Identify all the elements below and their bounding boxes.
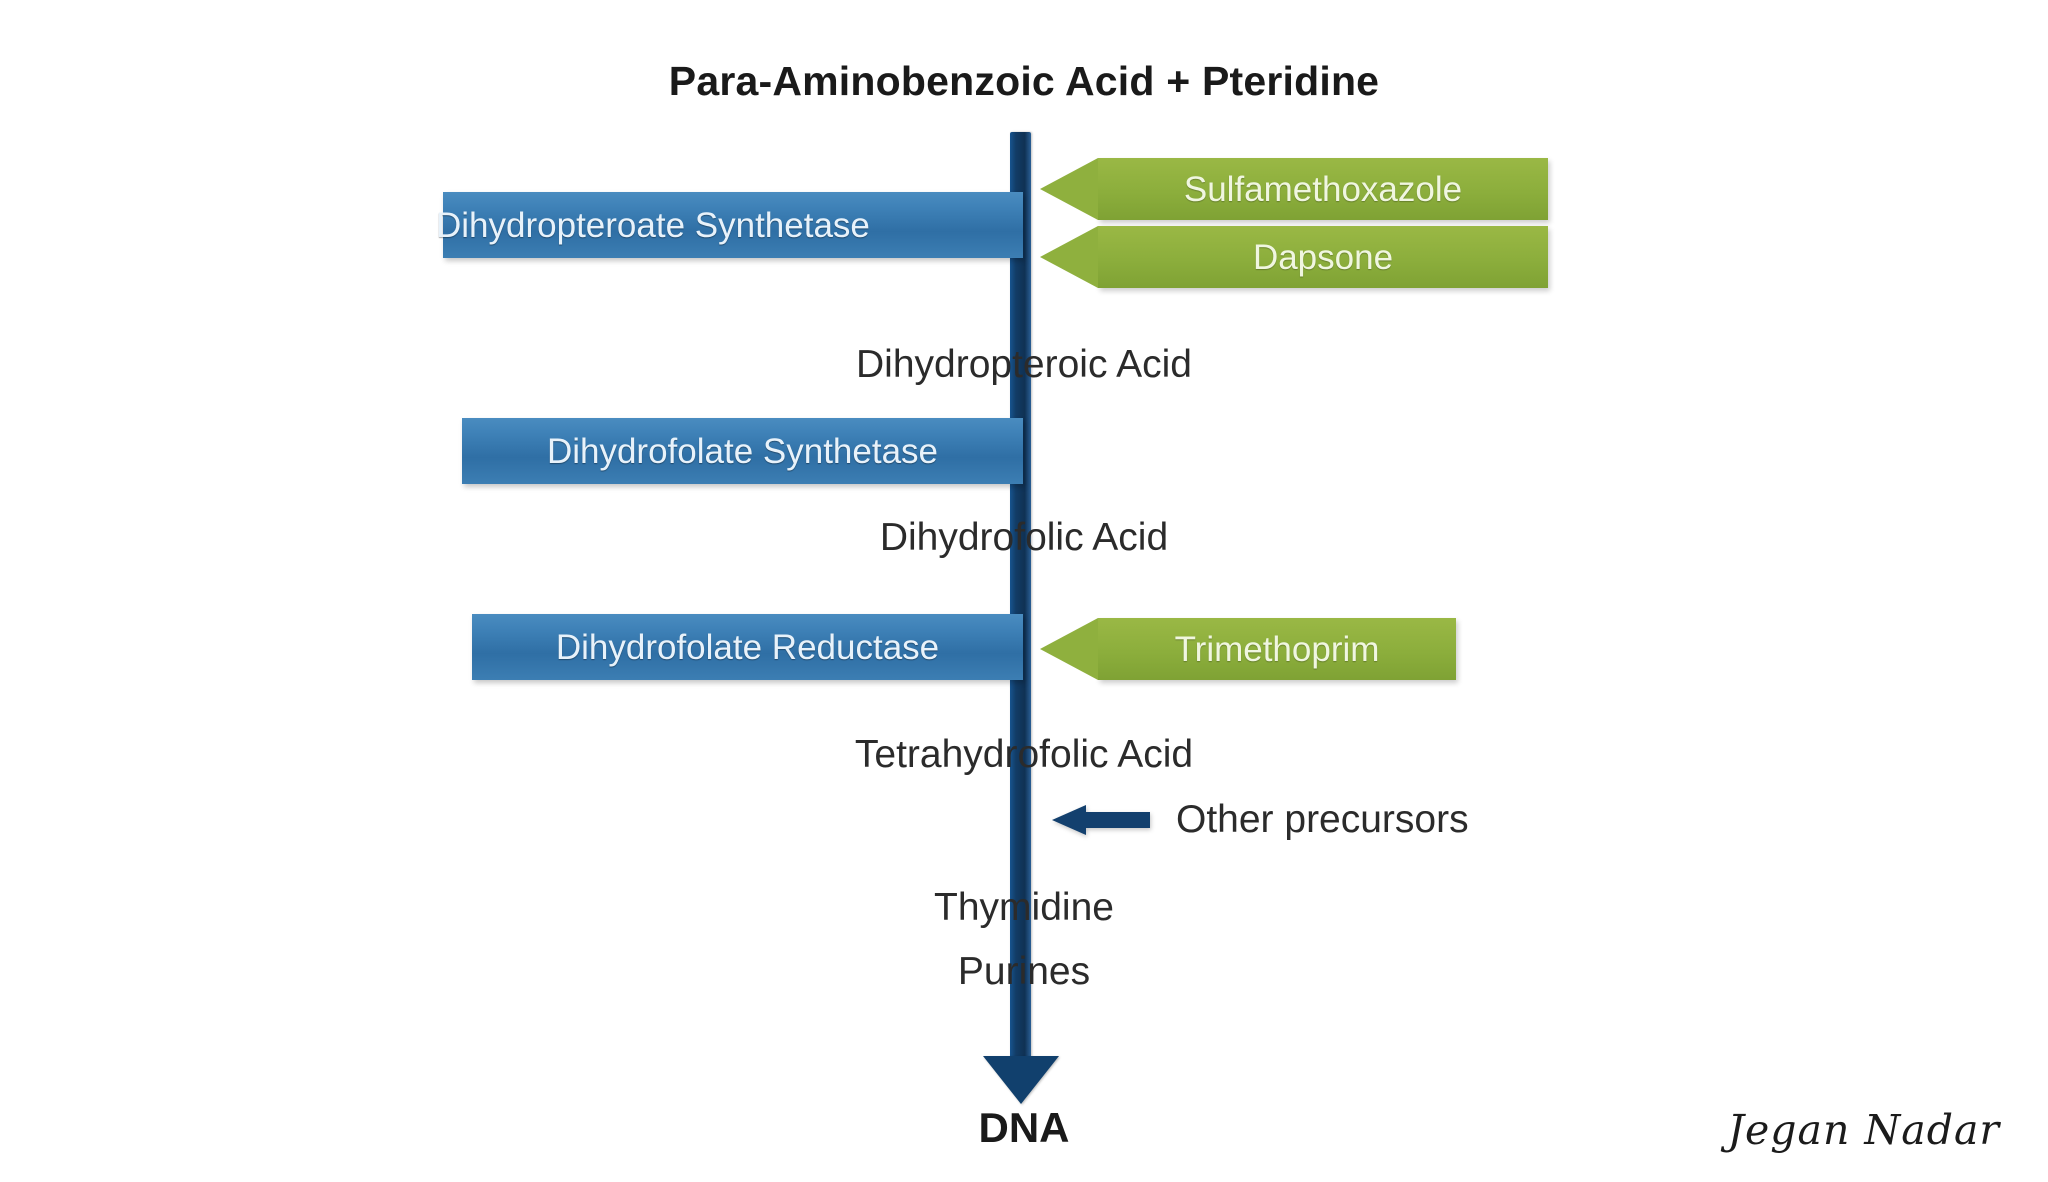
enzyme-bar-dihydrofolate-synthetase: Dihydrofolate Synthetase [462, 418, 1023, 484]
metabolite-label-purines: Purines [0, 952, 2048, 991]
input-label-other-precursors: Other precursors [1176, 800, 1469, 839]
metabolite-label-tetrahydrofolic-acid: Tetrahydrofolic Acid [0, 735, 2048, 774]
metabolite-label-thymidine: Thymidine [0, 888, 2048, 927]
pathway-arrowhead-icon [983, 1056, 1059, 1104]
inhibitor-arrow-body: Sulfamethoxazole [1098, 158, 1548, 220]
watermark-signature: Jegan Nadar [1728, 1106, 2000, 1154]
inhibitor-arrow-body: Dapsone [1098, 226, 1548, 288]
inhibitor-arrow-sulfamethoxazole: Sulfamethoxazole [1040, 158, 1548, 220]
inhibitor-label-sulfamethoxazole: Sulfamethoxazole [1184, 172, 1462, 207]
enzyme-label-dihydrofolate-reductase: Dihydrofolate Reductase [556, 630, 939, 665]
left-arrowhead-icon [1040, 158, 1098, 220]
metabolite-label-dihydrofolic-acid: Dihydrofolic Acid [0, 518, 2048, 557]
inhibitor-label-dapsone: Dapsone [1253, 240, 1393, 275]
enzyme-bar-dihydropteroate-synthetase: Dihydropteroate Synthetase [443, 192, 1023, 258]
enzyme-label-dihydropteroate-synthetase: Dihydropteroate Synthetase [436, 208, 870, 243]
pathway-spine-arrow [1010, 132, 1031, 1072]
diagram-title: Para-Aminobenzoic Acid + Pteridine [0, 58, 2048, 105]
metabolite-label-dihydropteroic-acid: Dihydropteroic Acid [0, 345, 2048, 384]
inhibitor-arrow-body: Trimethoprim [1098, 618, 1456, 680]
inhibitor-arrow-dapsone: Dapsone [1040, 226, 1548, 288]
enzyme-bar-dihydrofolate-reductase: Dihydrofolate Reductase [472, 614, 1023, 680]
folate-pathway-diagram: Para-Aminobenzoic Acid + Pteridine Dihyd… [0, 0, 2048, 1182]
enzyme-label-dihydrofolate-synthetase: Dihydrofolate Synthetase [547, 434, 938, 469]
inhibitor-label-trimethoprim: Trimethoprim [1175, 632, 1380, 667]
input-other-precursors: Other precursors [1052, 800, 1469, 839]
arrow-shaft [1082, 812, 1150, 828]
inhibitor-arrow-trimethoprim: Trimethoprim [1040, 618, 1456, 680]
left-arrowhead-icon [1040, 618, 1098, 680]
arrow-head [1052, 805, 1086, 835]
left-arrowhead-icon [1040, 226, 1098, 288]
left-arrow-icon [1052, 805, 1150, 835]
